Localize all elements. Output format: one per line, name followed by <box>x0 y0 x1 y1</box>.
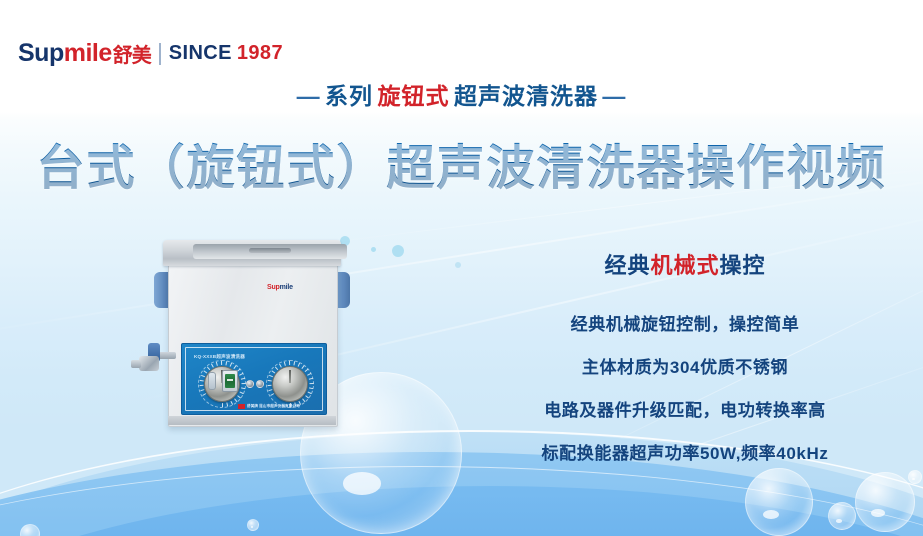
knob-scale-tick <box>307 373 311 376</box>
knob-scale-tick <box>293 361 295 365</box>
knob-scale-tick <box>301 365 304 369</box>
brand-logo: Sup mile 舒美 SINCE 1987 <box>18 39 283 68</box>
knob-scale-tick <box>270 393 274 396</box>
knob-scale-tick <box>220 361 221 365</box>
tank-lid-handle-slot <box>249 248 291 253</box>
tank-base <box>168 416 336 425</box>
knob-scale-tick <box>283 362 285 366</box>
knob-scale-tick <box>230 401 233 405</box>
knob-scale-tick <box>199 380 203 382</box>
fuse-holder[interactable] <box>208 372 216 390</box>
indicator-led-right <box>256 380 264 388</box>
feature-list: 经典机械式操控 经典机械旋钮控制，操控简单 主体材质为304优质不锈钢 电路及器… <box>470 248 900 464</box>
subtitle-dash-left: — <box>297 83 321 109</box>
feature-heading-part3: 操控 <box>720 253 766 278</box>
knob-scale-tick <box>288 361 289 365</box>
knob-scale-tick <box>233 365 236 369</box>
power-switch-rocker[interactable] <box>225 374 235 388</box>
knob-scale-tick <box>200 389 204 391</box>
knob-scale-tick <box>309 387 313 389</box>
feature-heading-part1: 经典 <box>604 253 650 278</box>
knob-scale-tick <box>267 385 271 386</box>
feature-line: 标配换能器超声功率50W,频率40kHz <box>470 439 900 464</box>
knob-scale-tick <box>305 395 309 398</box>
knob-scale-tick <box>309 383 313 384</box>
knob-scale-tick <box>302 398 305 402</box>
knob-scale-tick <box>229 363 232 367</box>
knob-scale-tick <box>240 378 244 380</box>
knob-scale-tick <box>307 392 311 395</box>
product-body-brand: Supmile <box>267 284 293 291</box>
bubble-small <box>908 470 922 484</box>
bubble-speck <box>455 262 461 268</box>
tank-lid <box>163 240 341 266</box>
logo-divider <box>159 43 161 65</box>
control-panel[interactable]: KQ-XXXB超声波清洗器 舒美牌 昆山市超声仪 <box>181 343 327 415</box>
knob-scale-tick <box>225 361 227 365</box>
knob-scale-tick <box>241 387 245 389</box>
heater-knob-wrapper[interactable] <box>266 360 312 406</box>
knob-scale-tick <box>241 383 245 384</box>
feature-line: 经典机械旋钮控制，操控简单 <box>470 310 900 335</box>
knob-scale-tick <box>237 395 241 398</box>
feature-heading-part2: 机械式 <box>650 253 719 278</box>
logo-since-year: 1987 <box>237 42 283 65</box>
knob-scale-tick <box>304 369 308 372</box>
knob-scale-tick <box>239 373 243 376</box>
knob-scale-tick <box>297 363 300 367</box>
heater-knob[interactable] <box>272 366 308 402</box>
promo-banner: Sup mile 舒美 SINCE 1987 — 系列 旋钮式 超声波清洗器 —… <box>0 0 923 536</box>
knob-scale-tick <box>222 403 223 407</box>
bubble-speck <box>371 247 376 252</box>
feature-line: 电路及器件升级匹配，电功转换率高 <box>470 396 900 421</box>
bubble-speck <box>392 245 404 257</box>
product-brand-part1: Sup <box>267 284 280 291</box>
knob-scale-tick <box>215 362 217 366</box>
drain-valve-body <box>139 356 159 371</box>
logo-brand-part1: Sup <box>18 39 64 68</box>
subtitle-part1: 系列 <box>325 83 373 109</box>
knob-scale-tick <box>268 389 272 391</box>
product-brand-part2: mile <box>280 284 293 291</box>
control-panel-footer-text: 舒美牌 昆山市超声仪器有限公司 <box>247 404 300 409</box>
feature-heading: 经典机械式操控 <box>470 248 900 280</box>
knob-scale-tick <box>269 375 273 377</box>
subtitle-dash-right: — <box>602 83 626 109</box>
knob-scale-tick <box>234 398 237 402</box>
subtitle-part2: 旋钮式 <box>378 83 450 109</box>
knob-scale-tick <box>199 385 203 386</box>
drain-valve-outlet <box>131 360 141 368</box>
knob-scale-tick <box>201 375 205 377</box>
feature-line: 主体材质为304优质不锈钢 <box>470 353 900 378</box>
indicator-led-left <box>246 380 254 388</box>
logo-brand-part2: mile <box>64 39 112 68</box>
power-switch[interactable] <box>222 370 238 392</box>
product-image-ultrasonic-cleaner: Supmile KQ-XXXB超声波清洗器 <box>145 240 357 430</box>
knob-scale-tick <box>308 378 312 380</box>
manufacturer-mark-icon <box>238 404 245 409</box>
knob-scale-tick <box>226 402 228 406</box>
control-panel-footer: 舒美牌 昆山市超声仪器有限公司 <box>238 404 300 409</box>
knob-scale-tick <box>202 393 206 396</box>
knob-scale-tick <box>239 392 243 395</box>
knob-scale-tick <box>267 380 271 382</box>
page-title: 台式（旋钮式）超声波清洗器操作视频 <box>0 128 923 198</box>
subtitle-part3: 超声波清洗器 <box>454 83 598 109</box>
logo-since-label: SINCE <box>169 42 232 65</box>
heater-knob-pointer <box>289 370 291 383</box>
series-subtitle: — 系列 旋钮式 超声波清洗器 — <box>0 77 923 111</box>
logo-brand-chinese: 舒美 <box>113 39 151 68</box>
